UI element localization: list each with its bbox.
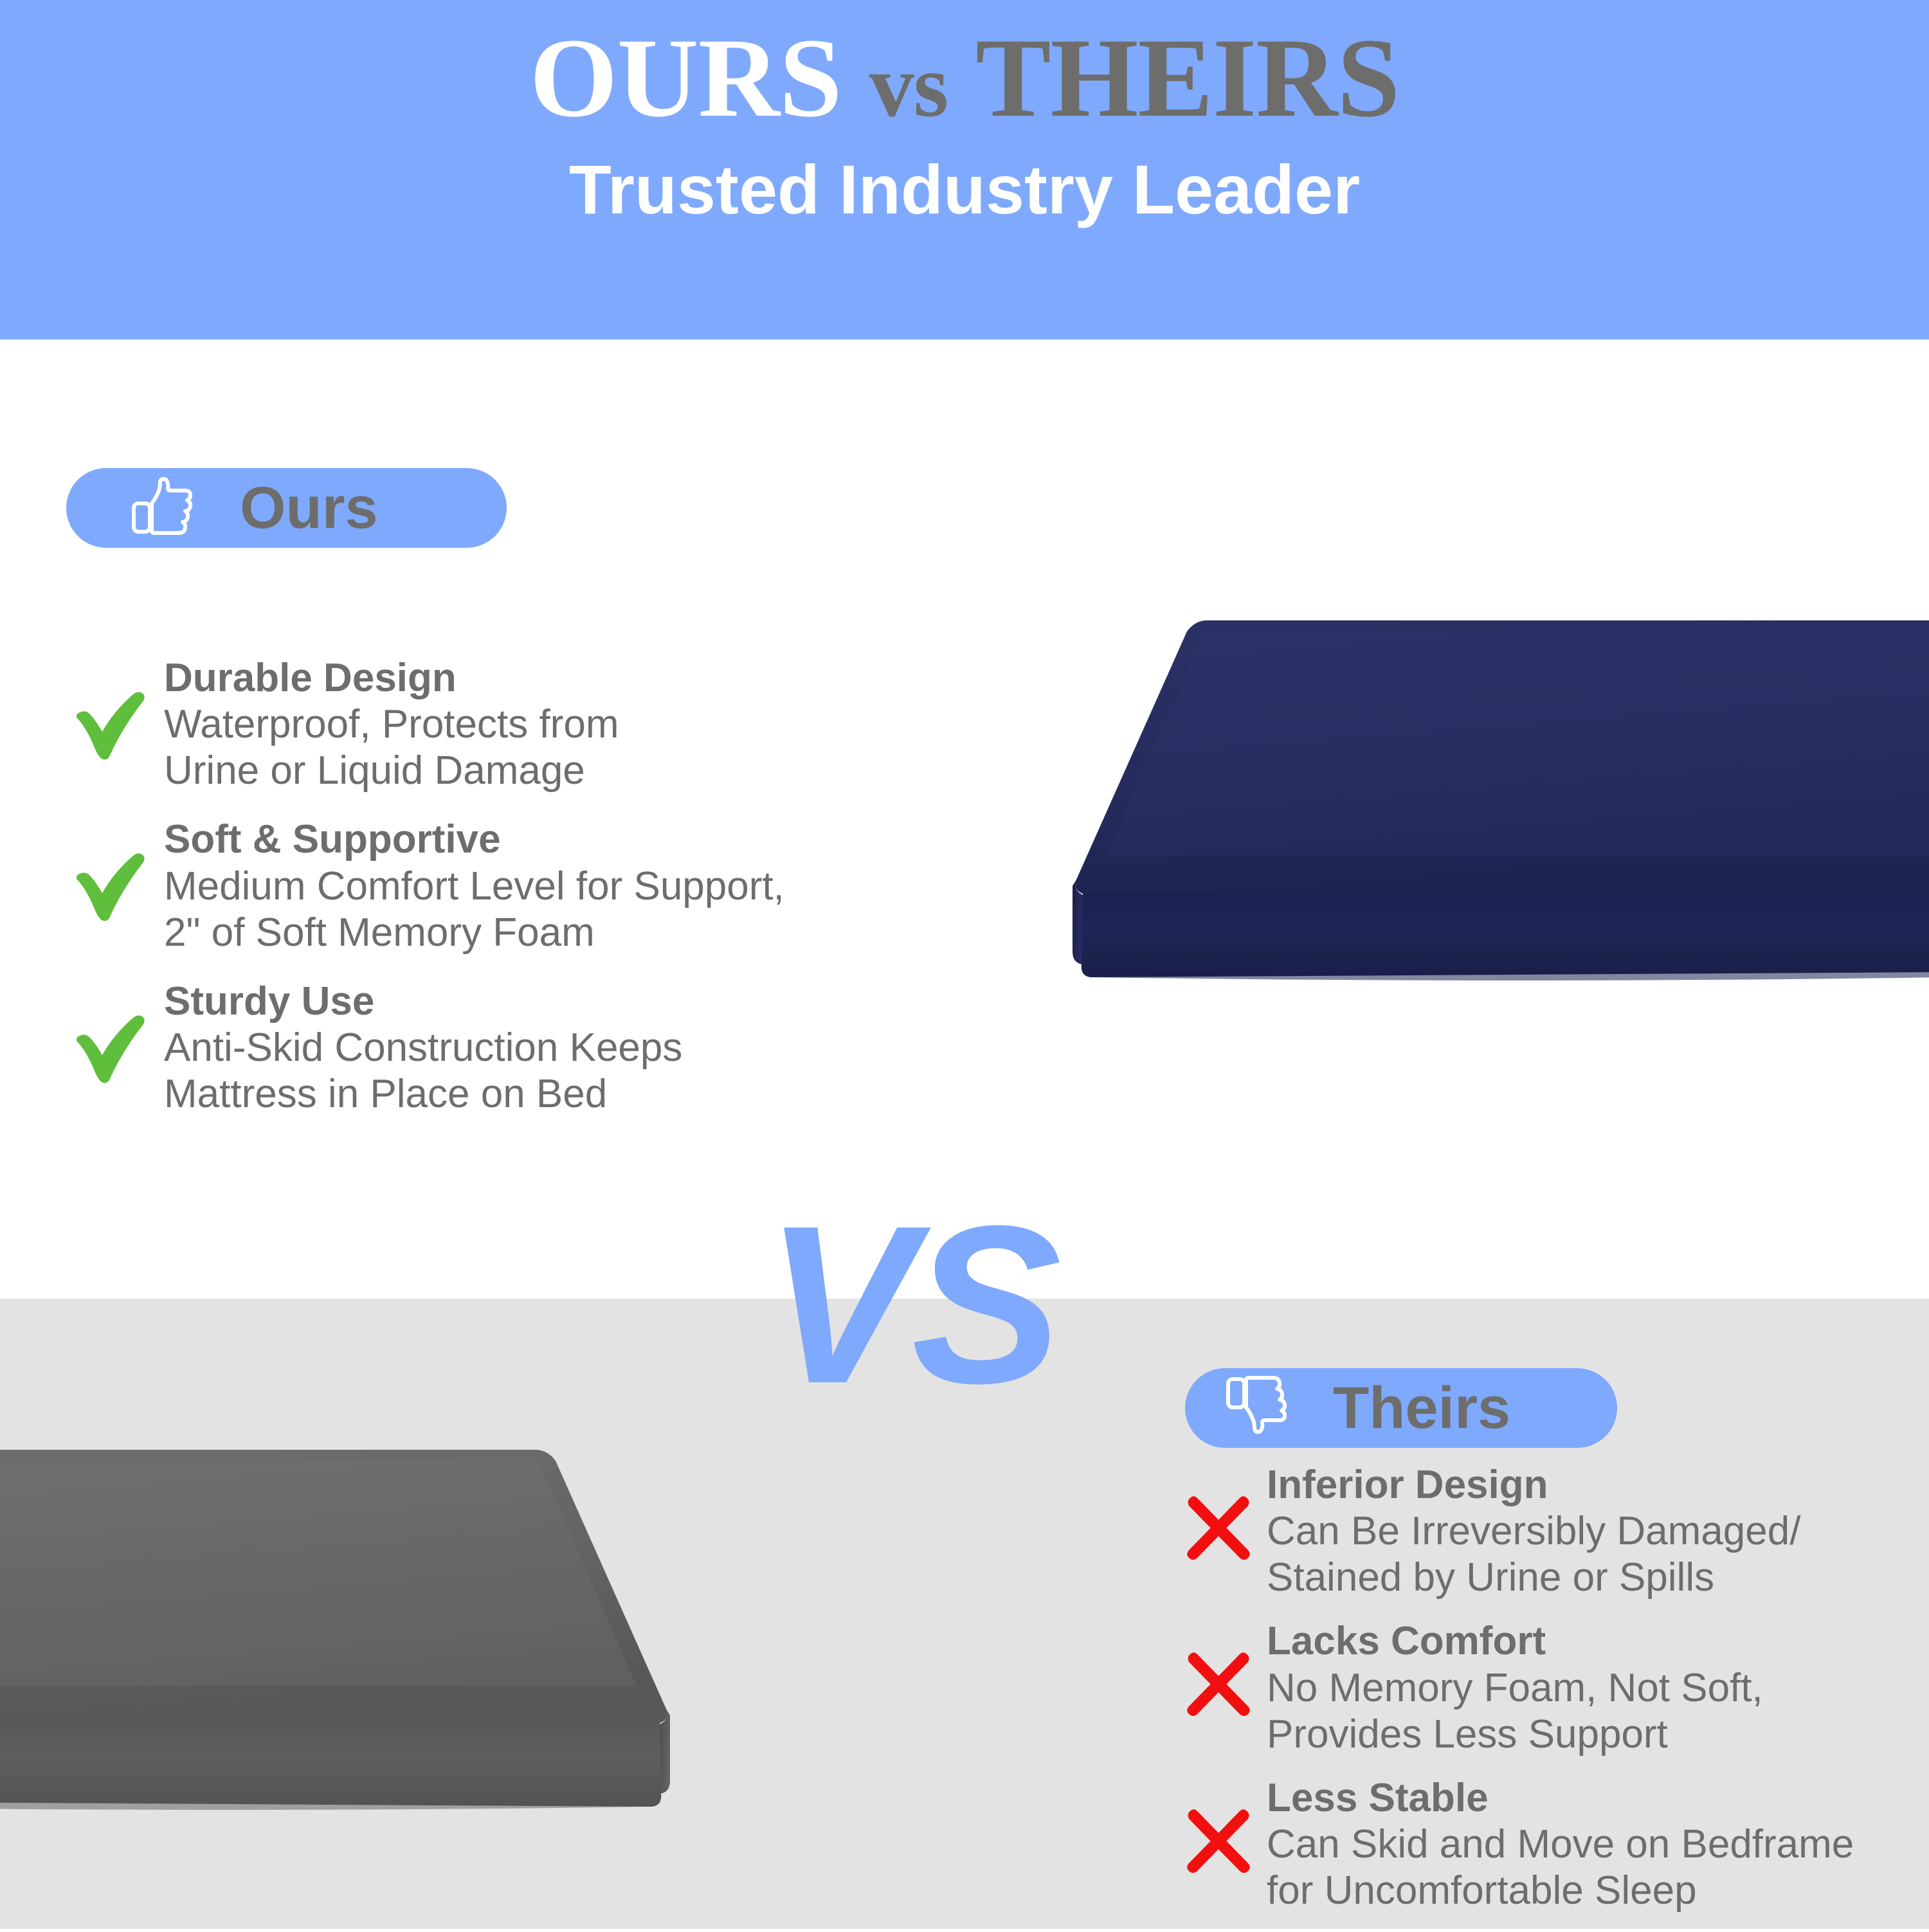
ours-product-image xyxy=(1067,617,1929,1019)
theirs-feature-item: Lacks Comfort No Memory Foam, Not Soft, … xyxy=(1170,1619,1929,1757)
red-x-icon xyxy=(1170,1776,1267,1877)
theirs-feature-text: Lacks Comfort No Memory Foam, Not Soft, … xyxy=(1267,1619,1929,1757)
red-x-icon xyxy=(1170,1619,1267,1720)
ours-feature-title: Soft & Supportive xyxy=(164,817,929,862)
ours-feature-title: Sturdy Use xyxy=(164,979,929,1024)
page-title: OURS vs THEIRS xyxy=(530,22,1400,135)
ours-feature-text: Durable Design Waterproof, Protects from… xyxy=(164,656,929,794)
theirs-feature-text: Inferior Design Can Be Irreversibly Dama… xyxy=(1267,1463,1929,1601)
ours-feature-item: Durable Design Waterproof, Protects from… xyxy=(61,656,929,794)
title-vs: vs xyxy=(869,36,948,136)
vs-divider-label: VS xyxy=(765,1193,1058,1418)
ours-feature-desc: Medium Comfort Level for Support, 2" of … xyxy=(164,863,929,956)
ours-feature-item: Sturdy Use Anti-Skid Construction Keeps … xyxy=(61,979,929,1117)
ours-feature-text: Soft & Supportive Medium Comfort Level f… xyxy=(164,817,929,955)
thumbs-down-icon xyxy=(1225,1375,1292,1442)
red-x-icon xyxy=(1170,1463,1267,1564)
ours-feature-desc: Waterproof, Protects from Urine or Liqui… xyxy=(164,701,929,794)
title-theirs: THEIRS xyxy=(975,15,1399,141)
ours-badge-label: Ours xyxy=(240,478,378,537)
green-check-icon xyxy=(61,656,164,760)
green-check-icon xyxy=(61,979,164,1083)
theirs-product-image xyxy=(0,1447,675,1848)
theirs-feature-title: Less Stable xyxy=(1267,1776,1929,1820)
theirs-feature-item: Inferior Design Can Be Irreversibly Dama… xyxy=(1170,1463,1929,1601)
ours-feature-title: Durable Design xyxy=(164,656,929,700)
ours-feature-desc: Anti-Skid Construction Keeps Mattress in… xyxy=(164,1025,929,1117)
ours-feature-text: Sturdy Use Anti-Skid Construction Keeps … xyxy=(164,979,929,1117)
header-banner: OURS vs THEIRS Trusted Industry Leader xyxy=(0,0,1929,339)
title-ours: OURS xyxy=(530,15,842,141)
theirs-feature-list: Inferior Design Can Be Irreversibly Dama… xyxy=(1170,1463,1929,1932)
theirs-feature-desc: Can Skid and Move on Bedframe for Uncomf… xyxy=(1267,1821,1929,1914)
theirs-feature-title: Inferior Design xyxy=(1267,1463,1929,1507)
theirs-feature-text: Less Stable Can Skid and Move on Bedfram… xyxy=(1267,1776,1929,1914)
theirs-feature-desc: No Memory Foam, Not Soft, Provides Less … xyxy=(1267,1665,1929,1758)
theirs-badge-label: Theirs xyxy=(1333,1378,1510,1438)
thumbs-up-icon xyxy=(131,477,197,539)
page-subtitle: Trusted Industry Leader xyxy=(569,149,1360,230)
ours-feature-item: Soft & Supportive Medium Comfort Level f… xyxy=(61,817,929,955)
theirs-badge[interactable]: Theirs xyxy=(1185,1368,1617,1448)
theirs-feature-title: Lacks Comfort xyxy=(1267,1619,1929,1663)
green-check-icon xyxy=(61,817,164,921)
ours-feature-list: Durable Design Waterproof, Protects from… xyxy=(61,656,929,1141)
ours-badge[interactable]: Ours xyxy=(66,468,507,548)
theirs-feature-desc: Can Be Irreversibly Damaged/ Stained by … xyxy=(1267,1508,1929,1601)
theirs-feature-item: Less Stable Can Skid and Move on Bedfram… xyxy=(1170,1776,1929,1914)
